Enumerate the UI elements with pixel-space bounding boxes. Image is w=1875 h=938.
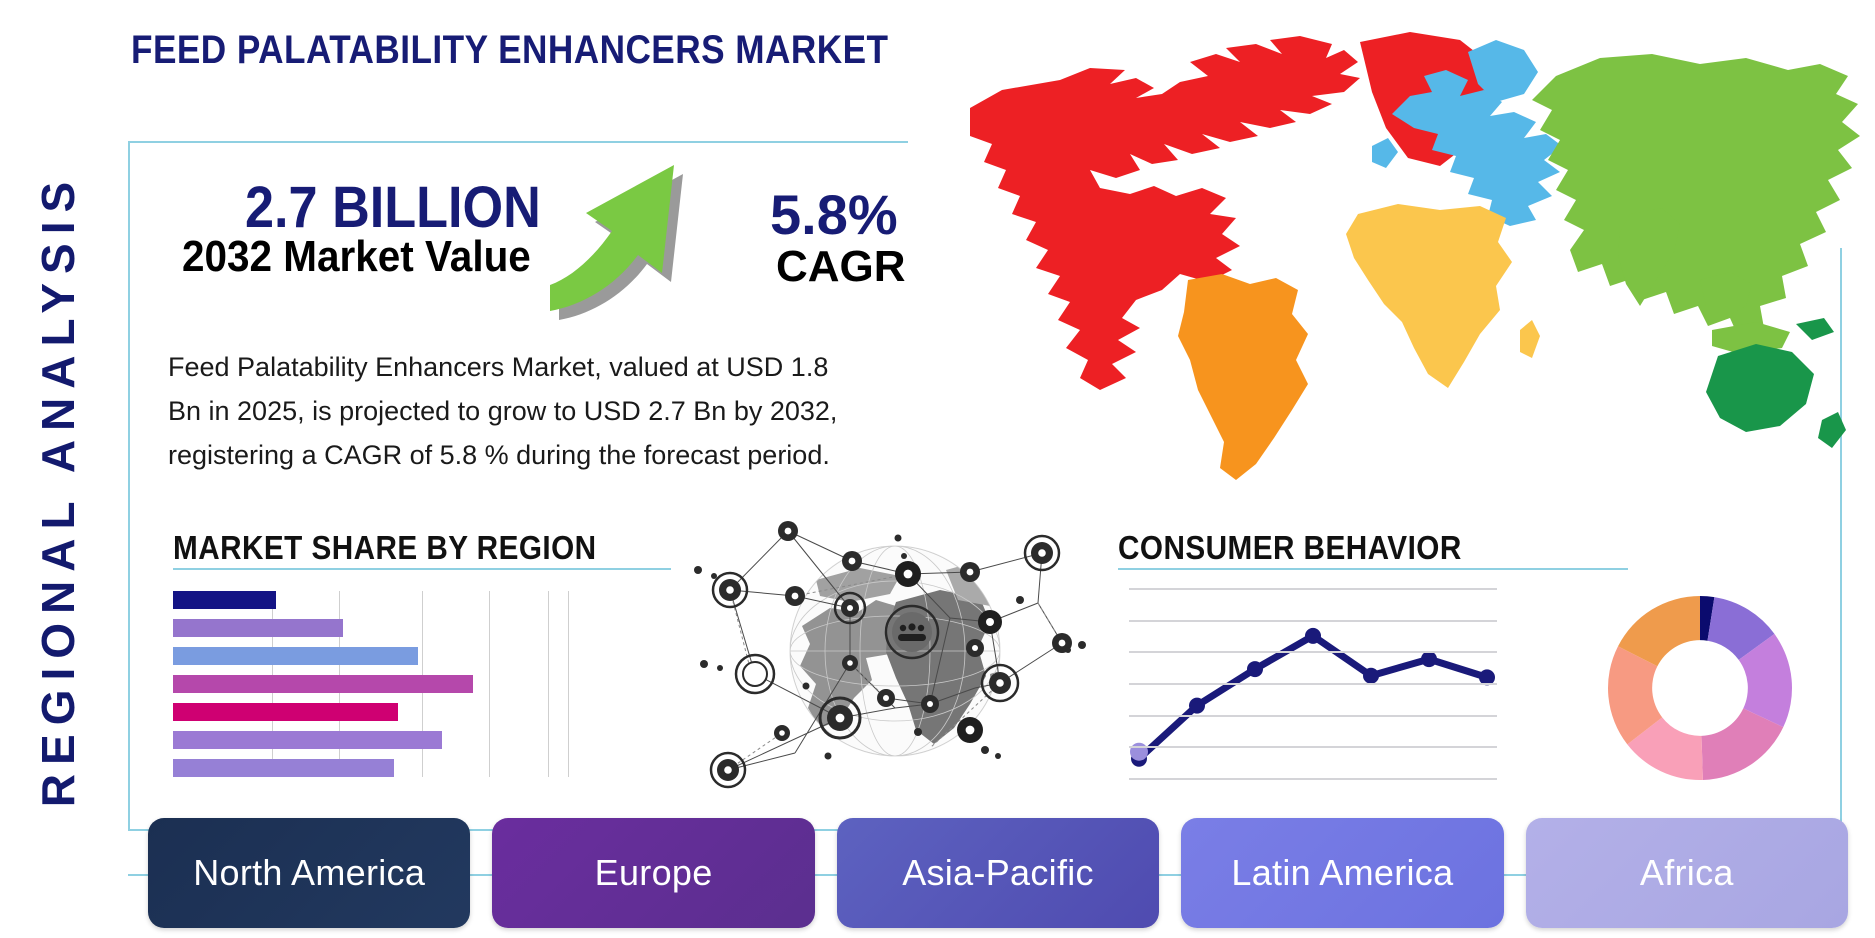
region-pill-africa[interactable]: Africa [1526, 818, 1848, 928]
infographic-canvas: REGIONAL ANALYSIS FEED PALATABILITY ENHA… [0, 0, 1875, 938]
consumer-behavior-heading: CONSUMER BEHAVIOR [1118, 529, 1462, 567]
bar-chart-rows [173, 591, 568, 777]
kpi-block: 2.7 BILLION 2032 Market Value 5.8% CAGR [160, 170, 920, 310]
bar-item [173, 619, 343, 637]
bar-item [173, 591, 276, 609]
page-title: FEED PALATABILITY ENHANCERS MARKET [131, 28, 888, 73]
region-pill-europe[interactable]: Europe [492, 818, 814, 928]
map-region-png [1796, 318, 1834, 340]
region-pill-north-america[interactable]: North America [148, 818, 470, 928]
bar-item [173, 647, 418, 665]
side-label-text: REGIONAL ANALYSIS [31, 173, 85, 807]
globe-network-svg [690, 508, 1090, 798]
region-pill-group: North AmericaEuropeAsia-PacificLatin Ame… [148, 818, 1848, 928]
growth-arrow-svg [550, 155, 750, 325]
region-pill-latin-america[interactable]: Latin America [1181, 818, 1503, 928]
map-region-australia [1706, 344, 1814, 432]
growth-arrow-icon [550, 155, 750, 325]
world-map-graphic [940, 18, 1875, 488]
map-region-asia [1532, 54, 1860, 336]
donut-svg [1604, 592, 1796, 784]
map-region-south-america [1178, 274, 1308, 480]
map-region-new-zealand [1818, 412, 1846, 448]
world-map-svg [940, 18, 1875, 488]
map-region-uk [1372, 138, 1398, 168]
cagr-caption: CAGR [776, 242, 906, 292]
map-region-madagascar [1520, 320, 1540, 358]
region-pill-asia-pacific[interactable]: Asia-Pacific [837, 818, 1159, 928]
market-description: Feed Palatability Enhancers Market, valu… [168, 345, 868, 477]
global-network-people-icon [690, 508, 1090, 798]
consumer-behavior-line-chart [1129, 588, 1497, 780]
market-share-heading: MARKET SHARE BY REGION [173, 529, 597, 567]
regional-analysis-side-label: REGIONAL ANALYSIS [18, 120, 98, 860]
cagr-figure: 5.8% [770, 182, 898, 247]
map-region-africa [1346, 204, 1512, 388]
bar-item [173, 759, 394, 777]
consumer-behavior-rule [1118, 568, 1628, 570]
market-share-bar-chart [173, 591, 568, 777]
bar-item [173, 675, 473, 693]
market-value-caption: 2032 Market Value [182, 232, 531, 282]
market-share-rule [173, 568, 671, 570]
line-chart-gridlines [1129, 588, 1497, 780]
bar-item [173, 731, 442, 749]
bar-item [173, 703, 398, 721]
regional-donut-chart [1604, 592, 1796, 784]
market-value-figure: 2.7 BILLION [245, 174, 541, 241]
